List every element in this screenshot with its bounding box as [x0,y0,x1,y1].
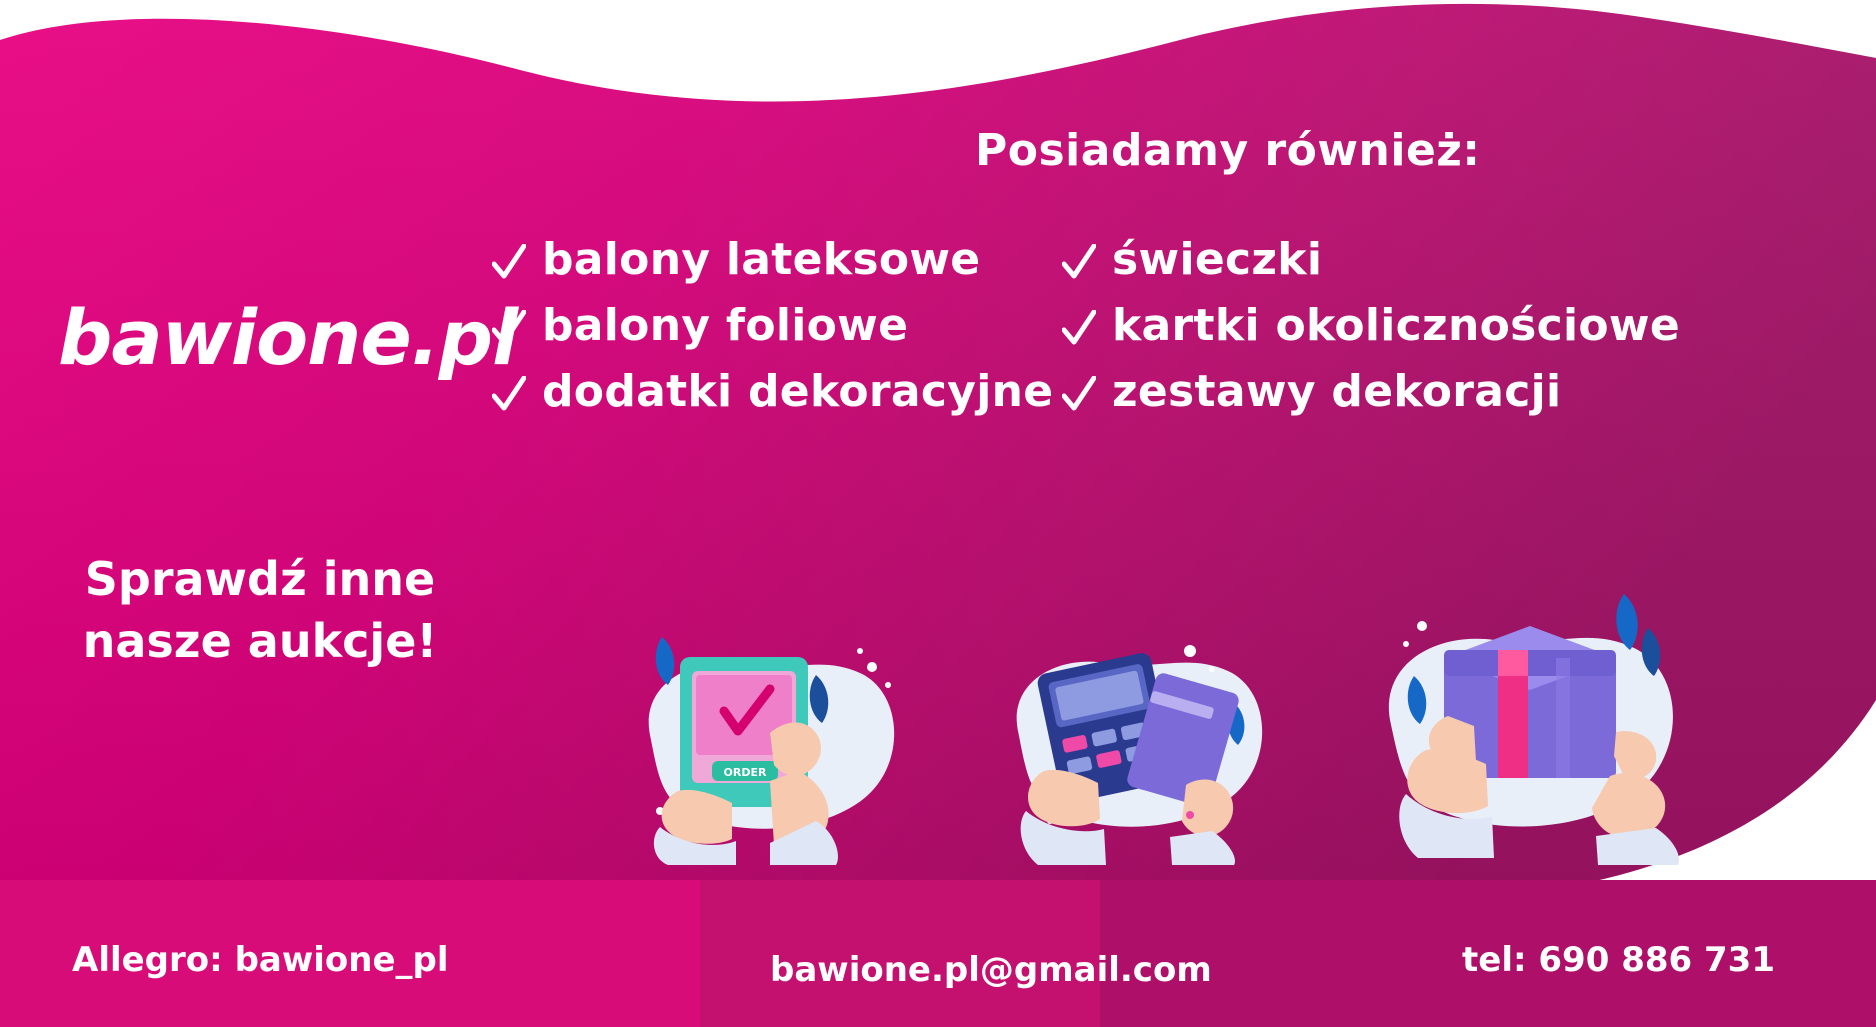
check-icon [492,370,526,414]
footer-email: bawione.pl@gmail.com [770,950,1212,990]
list-item: kartki okolicznościowe [1062,304,1680,348]
list-item-label: balony lateksowe [542,238,980,282]
list-item: balony lateksowe [492,238,1053,282]
svg-text:ORDER: ORDER [724,766,767,779]
brand-logo: bawione.pl [58,300,528,376]
list-item: balony foliowe [492,304,1053,348]
check-icon [1062,238,1096,282]
list-item-label: dodatki dekoracyjne [542,370,1053,414]
footer-allegro: Allegro: bawione_pl [72,940,449,980]
product-list-right: świeczki kartki okolicznościowe zestawy … [1062,238,1680,436]
list-item: zestawy dekoracji [1062,370,1680,414]
list-item-label: kartki okolicznościowe [1112,304,1680,348]
tablet-order-illustration: ORDER [620,615,920,865]
list-item: dodatki dekoracyjne [492,370,1053,414]
check-icon [492,304,526,348]
product-list-left: balony lateksowe balony foliowe dodatki … [492,238,1053,436]
list-item-label: zestawy dekoracji [1112,370,1561,414]
cta-line-2: nasze aukcje! [70,610,450,672]
cta-block: Sprawdź inne nasze aukcje! [70,548,450,672]
check-icon [1062,370,1096,414]
card-payment-terminal-illustration [990,615,1290,865]
promo-banner: bawione.pl Sprawdź inne nasze aukcje! Po… [0,0,1876,1027]
list-item-label: balony foliowe [542,304,908,348]
cta-line-1: Sprawdź inne [70,548,450,610]
check-icon [1062,304,1096,348]
list-item-label: świeczki [1112,238,1322,282]
gift-box-handover-illustration [1360,580,1700,865]
check-icon [492,238,526,282]
right-list-heading: Posiadamy również: [975,125,1481,176]
footer-contact-row: Allegro: bawione_pl bawione.pl@gmail.com… [0,940,1876,1010]
list-item: świeczki [1062,238,1680,282]
footer-phone: tel: 690 886 731 [1462,940,1775,980]
banner-background [0,0,1876,1027]
